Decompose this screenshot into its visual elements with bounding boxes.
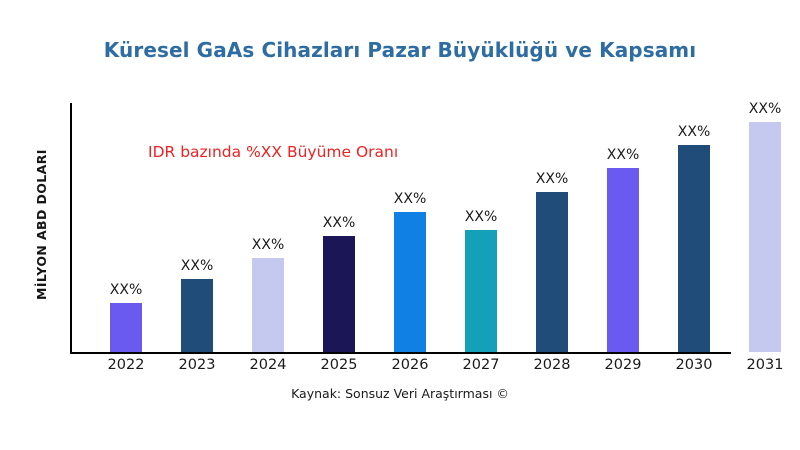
x-tick-label-2031: 2031 <box>730 357 800 373</box>
bar-rect-2029[interactable] <box>607 168 639 352</box>
bar-2024[interactable]: XX% <box>252 258 284 352</box>
bar-rect-2022[interactable] <box>110 303 142 352</box>
bar-value-label-2024: XX% <box>252 237 284 253</box>
bar-value-label-2027: XX% <box>465 209 497 225</box>
x-tick-label-2026: 2026 <box>375 357 445 373</box>
bar-rect-2023[interactable] <box>181 279 213 352</box>
bar-rect-2028[interactable] <box>536 192 568 352</box>
source-note: Kaynak: Sonsuz Veri Araştırması © <box>0 386 800 401</box>
x-tick-label-2028: 2028 <box>517 357 587 373</box>
bar-2028[interactable]: XX% <box>536 192 568 352</box>
x-tick-label-2024: 2024 <box>233 357 303 373</box>
bar-2025[interactable]: XX% <box>323 236 355 352</box>
bar-value-label-2022: XX% <box>110 282 142 298</box>
x-tick-label-2025: 2025 <box>304 357 374 373</box>
bar-value-label-2023: XX% <box>181 258 213 274</box>
x-tick-label-2023: 2023 <box>162 357 232 373</box>
bar-2023[interactable]: XX% <box>181 279 213 352</box>
x-tick-label-2022: 2022 <box>91 357 161 373</box>
bar-2031[interactable]: XX% <box>749 122 781 352</box>
x-tick-label-2027: 2027 <box>446 357 516 373</box>
bar-2022[interactable]: XX% <box>110 303 142 352</box>
bar-rect-2026[interactable] <box>394 212 426 352</box>
bar-2026[interactable]: XX% <box>394 212 426 352</box>
x-tick-label-2029: 2029 <box>588 357 658 373</box>
bar-rect-2031[interactable] <box>749 122 781 352</box>
bars-layer: XX%XX%XX%XX%XX%XX%XX%XX%XX%XX% <box>0 0 800 450</box>
bar-value-label-2029: XX% <box>607 147 639 163</box>
bar-value-label-2030: XX% <box>678 124 710 140</box>
bar-rect-2027[interactable] <box>465 230 497 352</box>
bar-value-label-2031: XX% <box>749 101 781 117</box>
bar-chart: Küresel GaAs Cihazları Pazar Büyüklüğü v… <box>0 0 800 450</box>
bar-value-label-2025: XX% <box>323 215 355 231</box>
bar-value-label-2026: XX% <box>394 191 426 207</box>
x-tick-label-2030: 2030 <box>659 357 729 373</box>
bar-value-label-2028: XX% <box>536 171 568 187</box>
bar-rect-2024[interactable] <box>252 258 284 352</box>
bar-2029[interactable]: XX% <box>607 168 639 352</box>
bar-rect-2025[interactable] <box>323 236 355 352</box>
bar-2030[interactable]: XX% <box>678 145 710 352</box>
bar-rect-2030[interactable] <box>678 145 710 352</box>
bar-2027[interactable]: XX% <box>465 230 497 352</box>
